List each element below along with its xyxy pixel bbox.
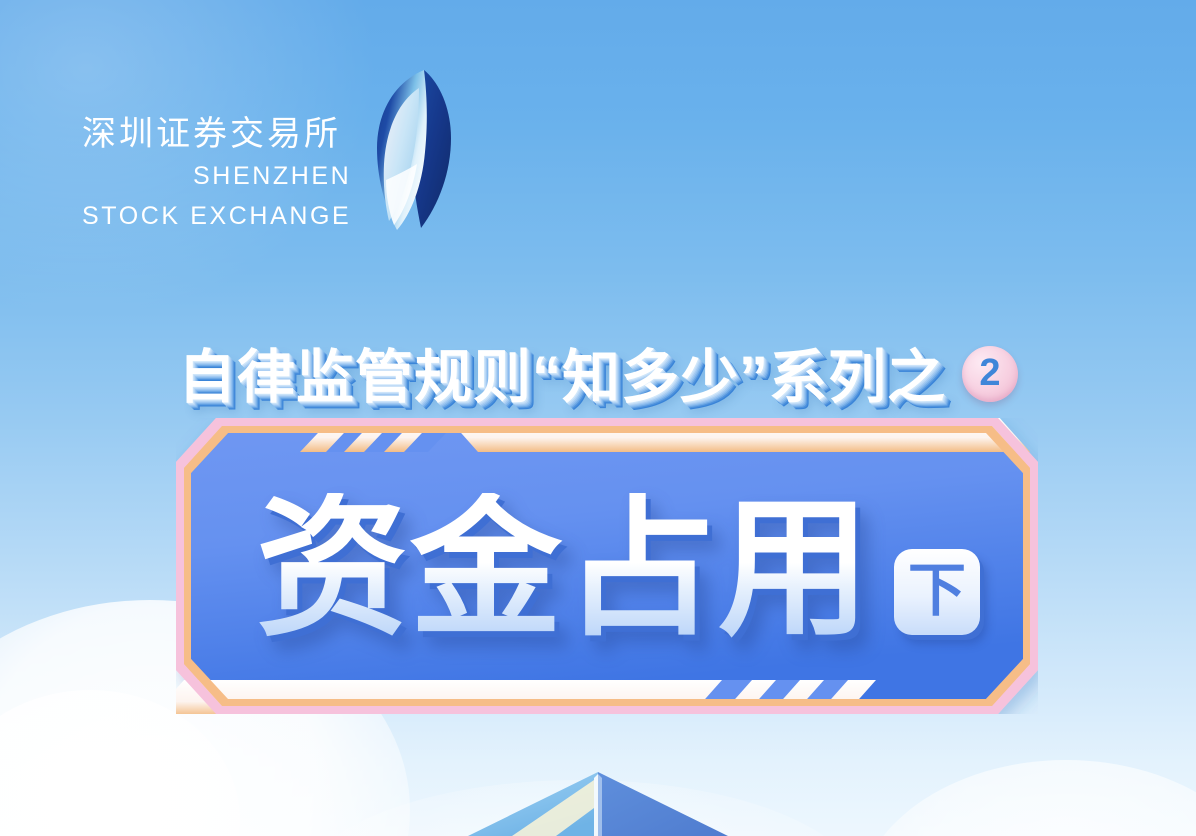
- series-title-row: 自律监管规则“知多少”系列之 2: [0, 330, 1196, 414]
- series-number-badge: 2: [962, 346, 1018, 402]
- szse-leaf-logo-icon: [367, 68, 475, 233]
- headline-sub-badge-char: 下: [908, 562, 966, 620]
- szse-logo-text: 深圳证券交易所 SHENZHEN STOCK EXCHANGE: [82, 68, 351, 232]
- szse-name-en-line2: STOCK EXCHANGE: [82, 201, 351, 232]
- headline-panel: 资金占用 下: [176, 418, 1038, 714]
- series-number-badge-digit: 2: [979, 354, 1000, 392]
- headline-main-text: 资金占用: [256, 493, 872, 645]
- exchange-building-silhouette: [468, 772, 728, 836]
- szse-name-cn: 深圳证券交易所: [82, 116, 351, 153]
- series-title-text: 自律监管规则“知多少”系列之: [178, 330, 946, 414]
- szse-logo: 深圳证券交易所 SHENZHEN STOCK EXCHANGE: [82, 68, 475, 233]
- cloud-mid: [300, 780, 860, 836]
- headline-sub-badge: 下: [894, 549, 980, 635]
- cloud-right: [856, 760, 1196, 836]
- headline-content: 资金占用 下: [176, 418, 1038, 714]
- szse-name-en-line1: SHENZHEN: [82, 161, 351, 192]
- poster-canvas: 深圳证券交易所 SHENZHEN STOCK EXCHANGE: [0, 0, 1196, 836]
